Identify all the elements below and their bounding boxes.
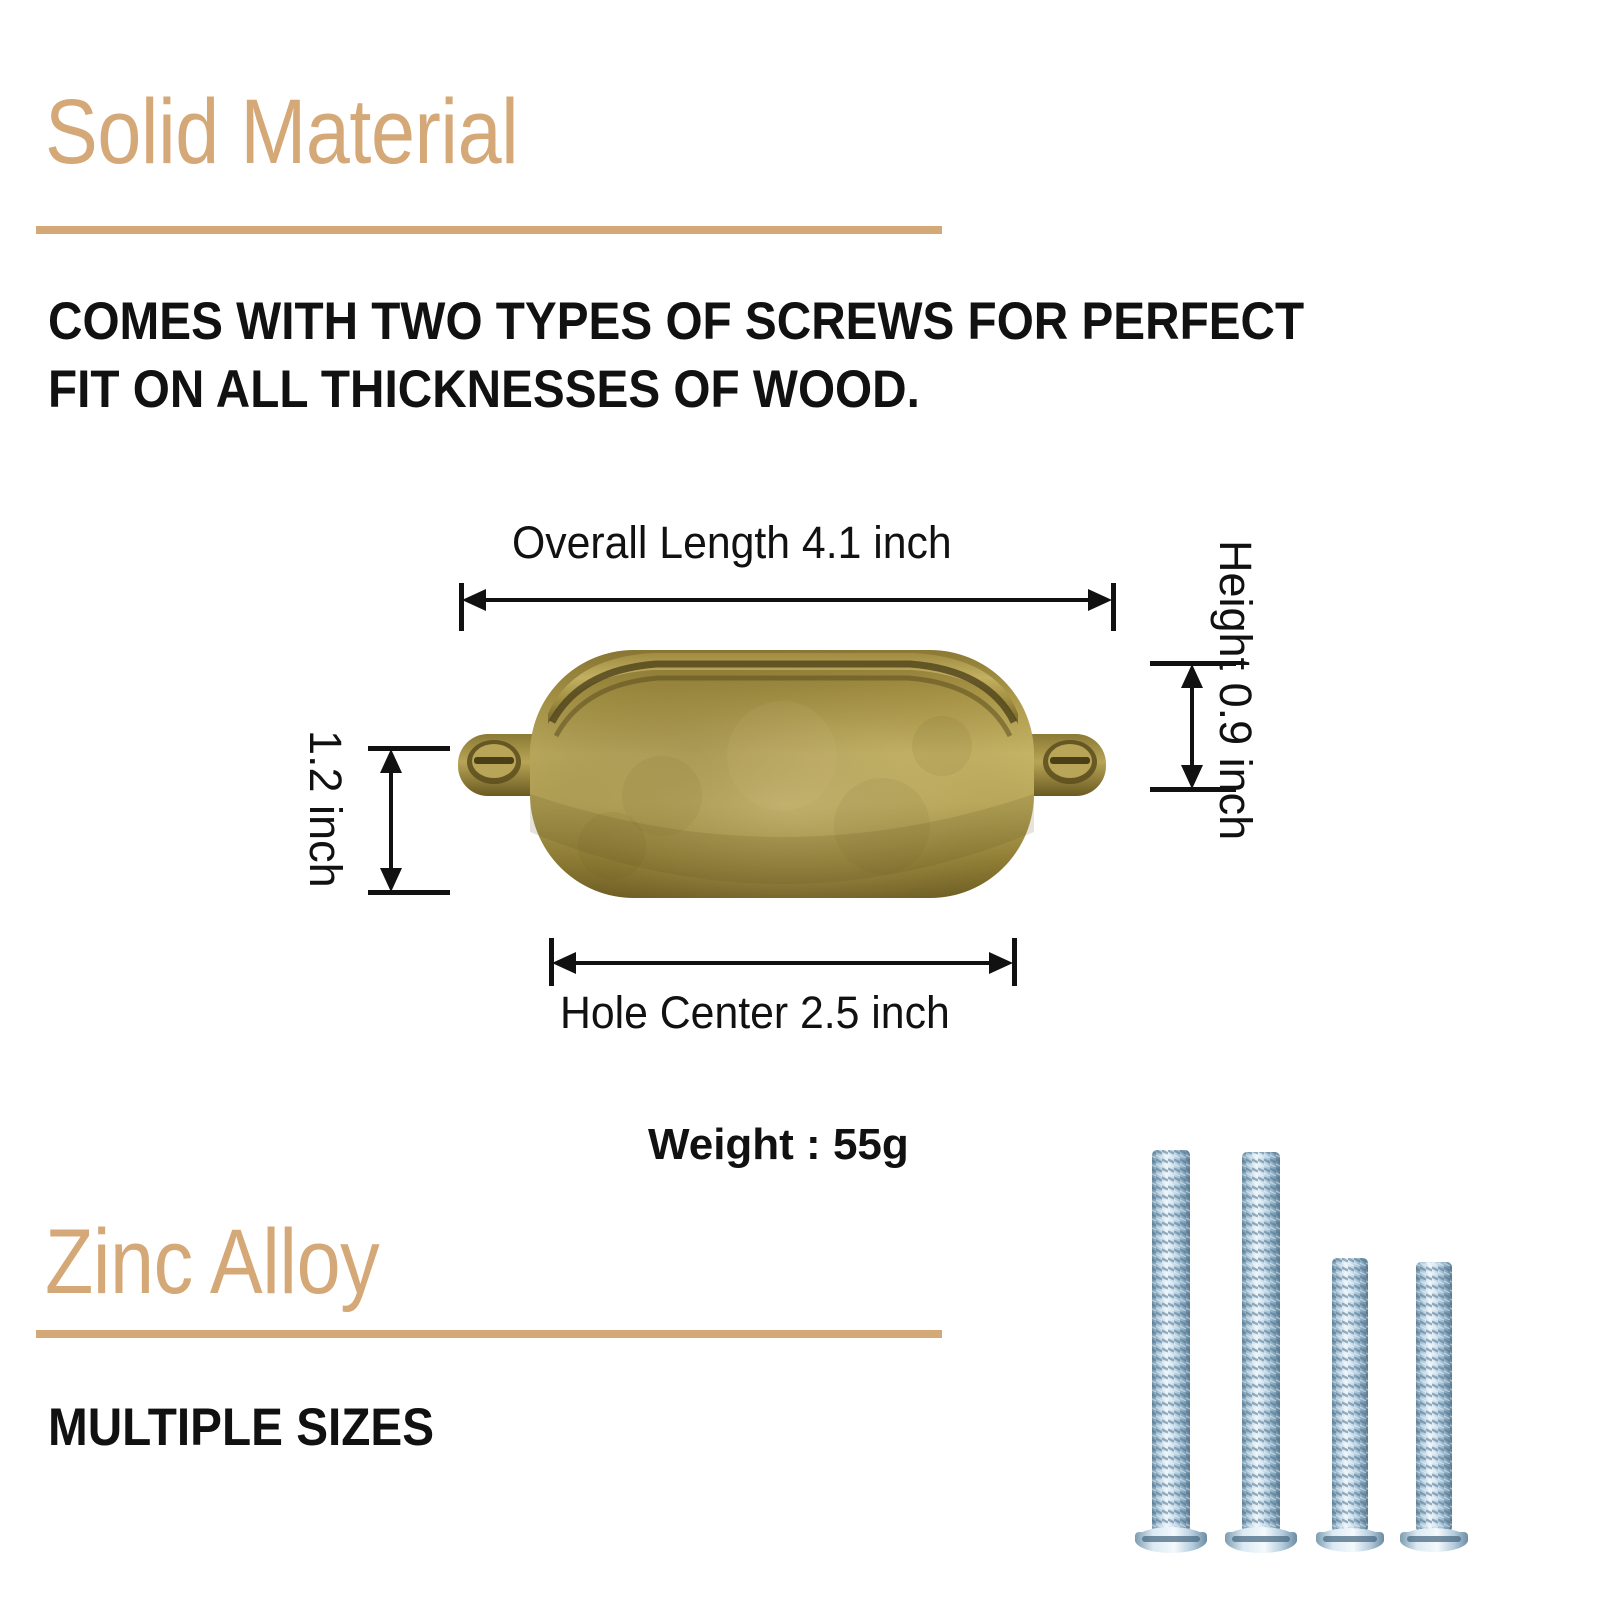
- arrowhead-height-top: [1181, 664, 1203, 688]
- label-height: Height 0.9 inch: [1210, 540, 1260, 840]
- screw-long-1: [1135, 1150, 1207, 1553]
- pull-body: [530, 650, 1034, 898]
- arrowhead-overall-length-left: [462, 589, 486, 611]
- arrowhead-width-top: [380, 749, 402, 773]
- label-overall-length: Overall Length 4.1 inch: [512, 518, 952, 568]
- dimension-line-overall-length: [470, 598, 1106, 602]
- body-text-multiple-sizes: MULTIPLE SIZES: [48, 1394, 434, 1462]
- label-weight: Weight : 55g: [648, 1118, 909, 1172]
- label-width: 1.2 inch: [300, 730, 350, 888]
- screw-short-2: [1400, 1262, 1468, 1552]
- dimension-line-hole-center: [560, 961, 1007, 965]
- product-image-screws: [1120, 1140, 1480, 1570]
- arrowhead-overall-length-right: [1088, 589, 1112, 611]
- body-text-screws: COMES WITH TWO TYPES OF SCREWS FOR PERFE…: [48, 288, 1362, 424]
- arrowhead-width-bottom: [380, 868, 402, 892]
- label-hole-center: Hole Center 2.5 inch: [560, 988, 950, 1038]
- heading-solid-material: Solid Material: [45, 82, 518, 182]
- infographic-page: Solid Material COMES WITH TWO TYPES OF S…: [0, 0, 1600, 1600]
- divider-top: [36, 226, 942, 234]
- arrowhead-hole-center-right: [989, 952, 1013, 974]
- heading-zinc-alloy: Zinc Alloy: [45, 1212, 379, 1312]
- bin-pull-svg: [452, 636, 1112, 906]
- product-image-bin-pull: [452, 636, 1112, 906]
- arrowhead-height-bottom: [1181, 765, 1203, 789]
- screws-svg: [1120, 1140, 1480, 1570]
- dimension-line-width: [389, 757, 393, 883]
- screw-long-2: [1225, 1152, 1297, 1553]
- arrowhead-hole-center-left: [552, 952, 576, 974]
- dimension-line-height: [1190, 672, 1194, 780]
- screw-short-1: [1316, 1258, 1384, 1552]
- divider-bottom: [36, 1330, 942, 1338]
